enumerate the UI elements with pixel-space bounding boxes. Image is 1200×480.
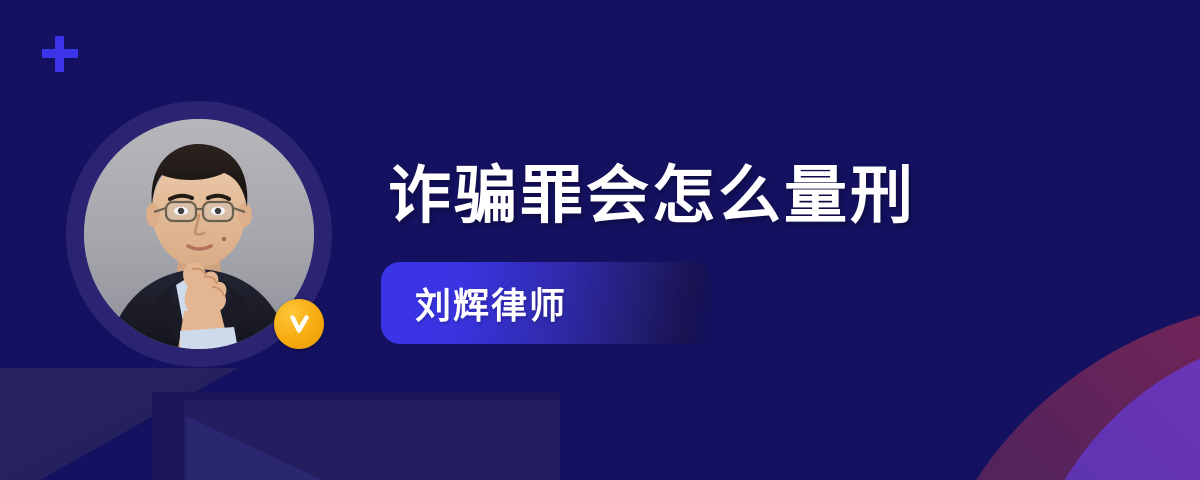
page-title: 诈骗罪会怎么量刑: [388, 162, 916, 230]
crimson-arc-shape: [910, 300, 1200, 480]
avatar: [66, 101, 332, 367]
verified-badge: [274, 299, 324, 349]
purple-circle-shape: [1020, 330, 1200, 480]
lawyer-video-banner: 诈骗罪会怎么量刑 刘辉律师: [0, 0, 1200, 480]
plus-icon: [42, 36, 78, 72]
diagonal-polygon-center: [152, 392, 560, 480]
lawyer-name-badge: 刘辉律师: [381, 262, 711, 344]
verified-check-icon: [284, 309, 314, 339]
diagonal-triangle-accent: [186, 416, 322, 480]
lawyer-name-label: 刘辉律师: [381, 277, 567, 329]
diagonal-polygon-right: [184, 400, 560, 480]
diagonal-polygon-left: [0, 368, 238, 480]
diagonal-polygon-left-inner: [0, 370, 212, 480]
